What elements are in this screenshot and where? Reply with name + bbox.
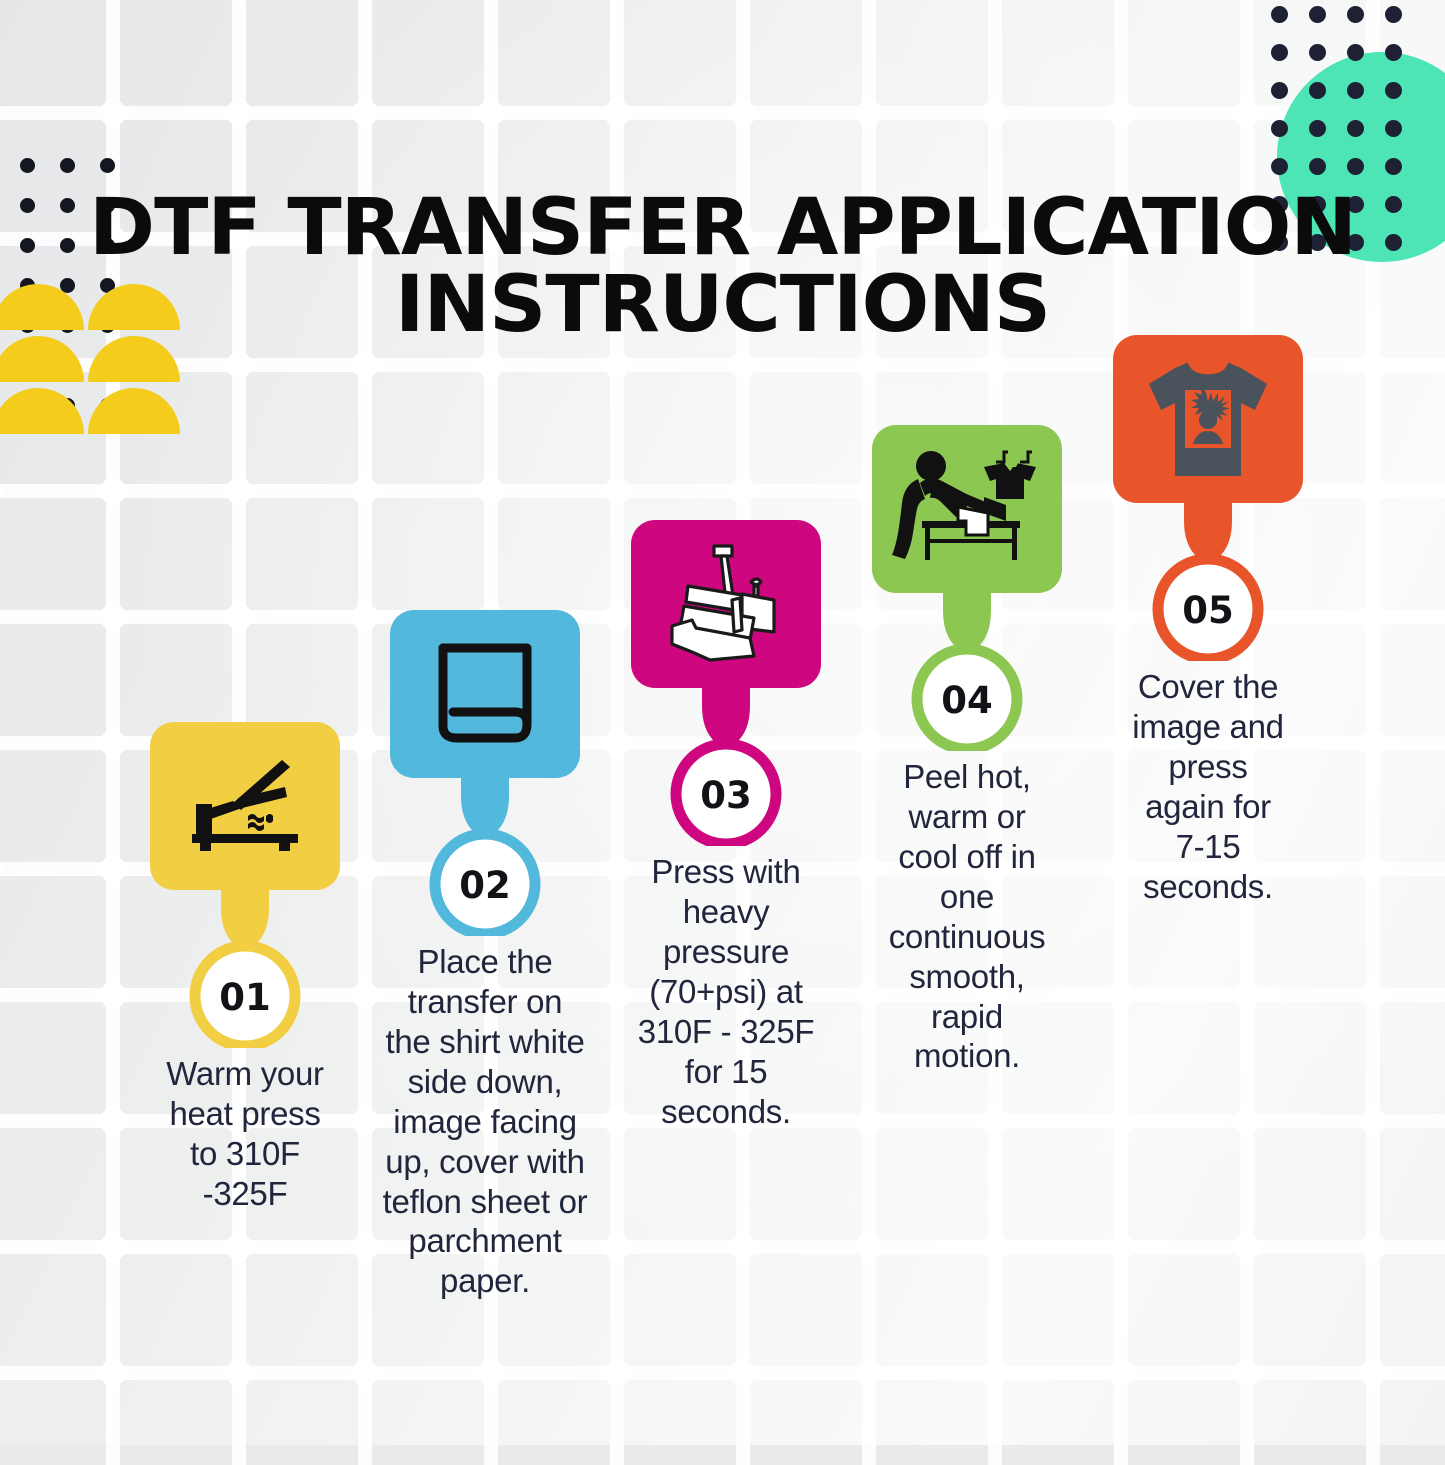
heat-press-machine-icon: [658, 540, 794, 668]
step-icon-card-02[interactable]: [390, 610, 580, 778]
step-number-01: 01: [120, 976, 370, 1019]
step-connector-04: 04: [842, 593, 1092, 751]
step-item-01: 01 Warm your heat press to 310F -325F: [120, 722, 370, 1214]
step-connector-01: 01: [120, 890, 370, 1048]
step-caption-04: Peel hot, warm or cool off in one contin…: [842, 757, 1092, 1076]
person-peeling-transfer-icon: [892, 447, 1042, 571]
step-number-02: 02: [360, 864, 610, 907]
curled-transfer-sheet-icon: [429, 640, 541, 748]
step-number-04: 04: [842, 679, 1092, 722]
step-item-03: 03 Press with heavy pressure (70+psi) at…: [601, 520, 851, 1131]
step-item-02: 02 Place the transfer on the shirt white…: [360, 610, 610, 1301]
heat-press-open-icon: [186, 758, 304, 854]
step-number-03: 03: [601, 774, 851, 817]
step-icon-card-05[interactable]: [1113, 335, 1303, 503]
printed-tshirt-icon: [1145, 358, 1271, 480]
step-icon-card-03[interactable]: [631, 520, 821, 688]
steps-container: 01 Warm your heat press to 310F -325F: [0, 0, 1445, 1445]
step-caption-03: Press with heavy pressure (70+psi) at 31…: [601, 852, 851, 1131]
step-connector-05: 05: [1083, 503, 1333, 661]
step-item-05: 05 Cover the image and press again for 7…: [1083, 335, 1333, 907]
step-connector-03: 03: [601, 688, 851, 846]
step-number-05: 05: [1083, 589, 1333, 632]
step-caption-02: Place the transfer on the shirt white si…: [360, 942, 610, 1301]
step-item-04: 04 Peel hot, warm or cool off in one con…: [842, 425, 1092, 1076]
step-icon-card-04[interactable]: [872, 425, 1062, 593]
step-connector-02: 02: [360, 778, 610, 936]
step-caption-05: Cover the image and press again for 7-15…: [1083, 667, 1333, 907]
step-caption-01: Warm your heat press to 310F -325F: [120, 1054, 370, 1214]
step-icon-card-01[interactable]: [150, 722, 340, 890]
